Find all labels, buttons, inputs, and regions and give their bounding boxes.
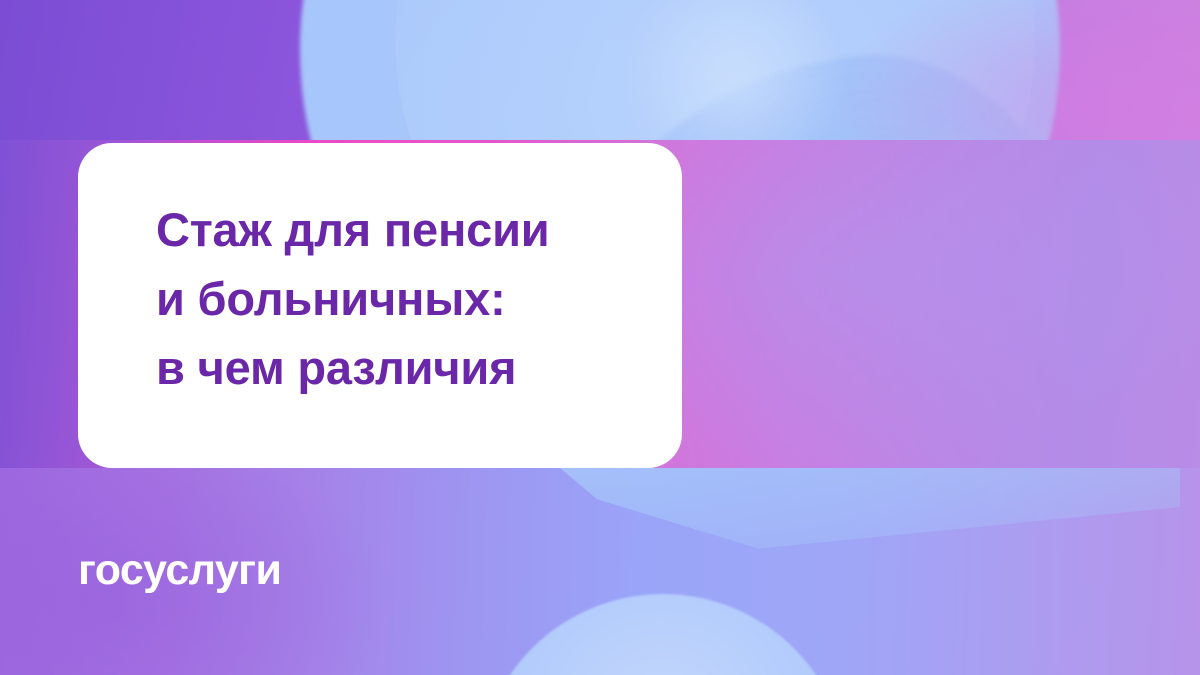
page-title: Стаж для пенсии и больничных: в чем разл… — [156, 195, 550, 402]
poster-canvas: Стаж для пенсии и больничных: в чем разл… — [0, 0, 1200, 675]
title-card: Стаж для пенсии и больничных: в чем разл… — [78, 143, 682, 468]
middle-band-shading — [640, 140, 1200, 470]
gosuslugi-logo[interactable]: госуслуги — [78, 549, 281, 592]
